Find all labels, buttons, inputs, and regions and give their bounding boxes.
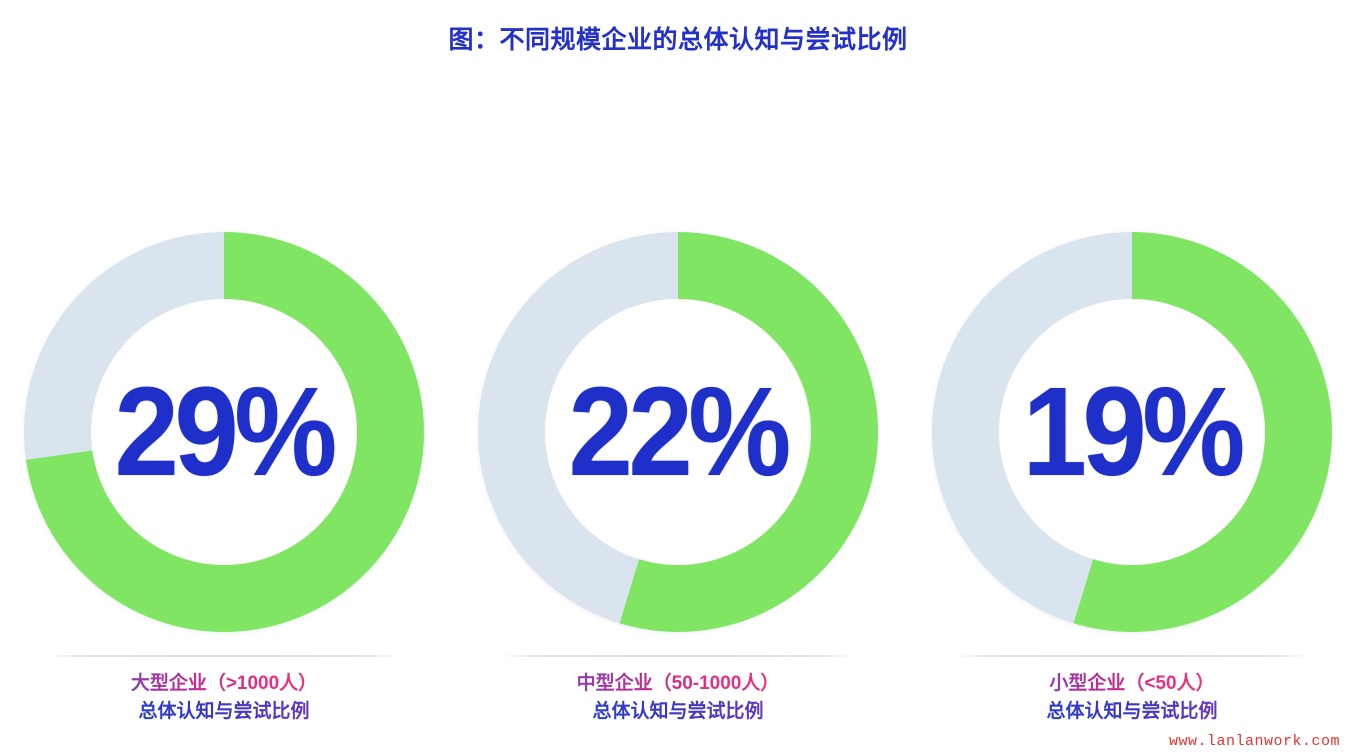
divider-1 [48, 655, 400, 657]
donut-chart-row: 29% 大型企业（>1000人） 总体认知与尝试比例 22% 中型企业（50-1… [0, 232, 1356, 732]
label-block-2: 中型企业（50-1000人） 总体认知与尝试比例 [577, 671, 780, 724]
label-secondary-2: 总体认知与尝试比例 [577, 699, 780, 725]
donut-value-1: 29% [115, 369, 333, 495]
chart-title: 图：不同规模企业的总体认知与尝试比例 [0, 20, 1356, 56]
donut-cell-medium-enterprise: 22% 中型企业（50-1000人） 总体认知与尝试比例 [468, 232, 888, 724]
label-block-1: 大型企业（>1000人） 总体认知与尝试比例 [131, 671, 317, 724]
donut-cell-large-enterprise: 29% 大型企业（>1000人） 总体认知与尝试比例 [14, 232, 434, 724]
divider-2 [502, 655, 854, 657]
label-secondary-3: 总体认知与尝试比例 [1046, 699, 1217, 725]
donut-hole-1: 29% [91, 299, 357, 565]
label-secondary-1: 总体认知与尝试比例 [131, 699, 317, 725]
watermark: www.lanlanwork.com [1169, 733, 1340, 750]
donut-wrap-1: 29% [24, 232, 424, 632]
donut-cell-small-enterprise: 19% 小型企业（<50人） 总体认知与尝试比例 [922, 232, 1342, 724]
donut-value-3: 19% [1023, 369, 1241, 495]
label-primary-1: 大型企业（>1000人） [131, 671, 317, 697]
donut-hole-2: 22% [545, 299, 811, 565]
divider-3 [956, 655, 1308, 657]
donut-wrap-3: 19% [932, 232, 1332, 632]
donut-hole-3: 19% [999, 299, 1265, 565]
donut-wrap-2: 22% [478, 232, 878, 632]
label-primary-2: 中型企业（50-1000人） [577, 671, 780, 697]
donut-value-2: 22% [569, 369, 787, 495]
label-block-3: 小型企业（<50人） 总体认知与尝试比例 [1046, 671, 1217, 724]
label-primary-3: 小型企业（<50人） [1049, 671, 1214, 697]
